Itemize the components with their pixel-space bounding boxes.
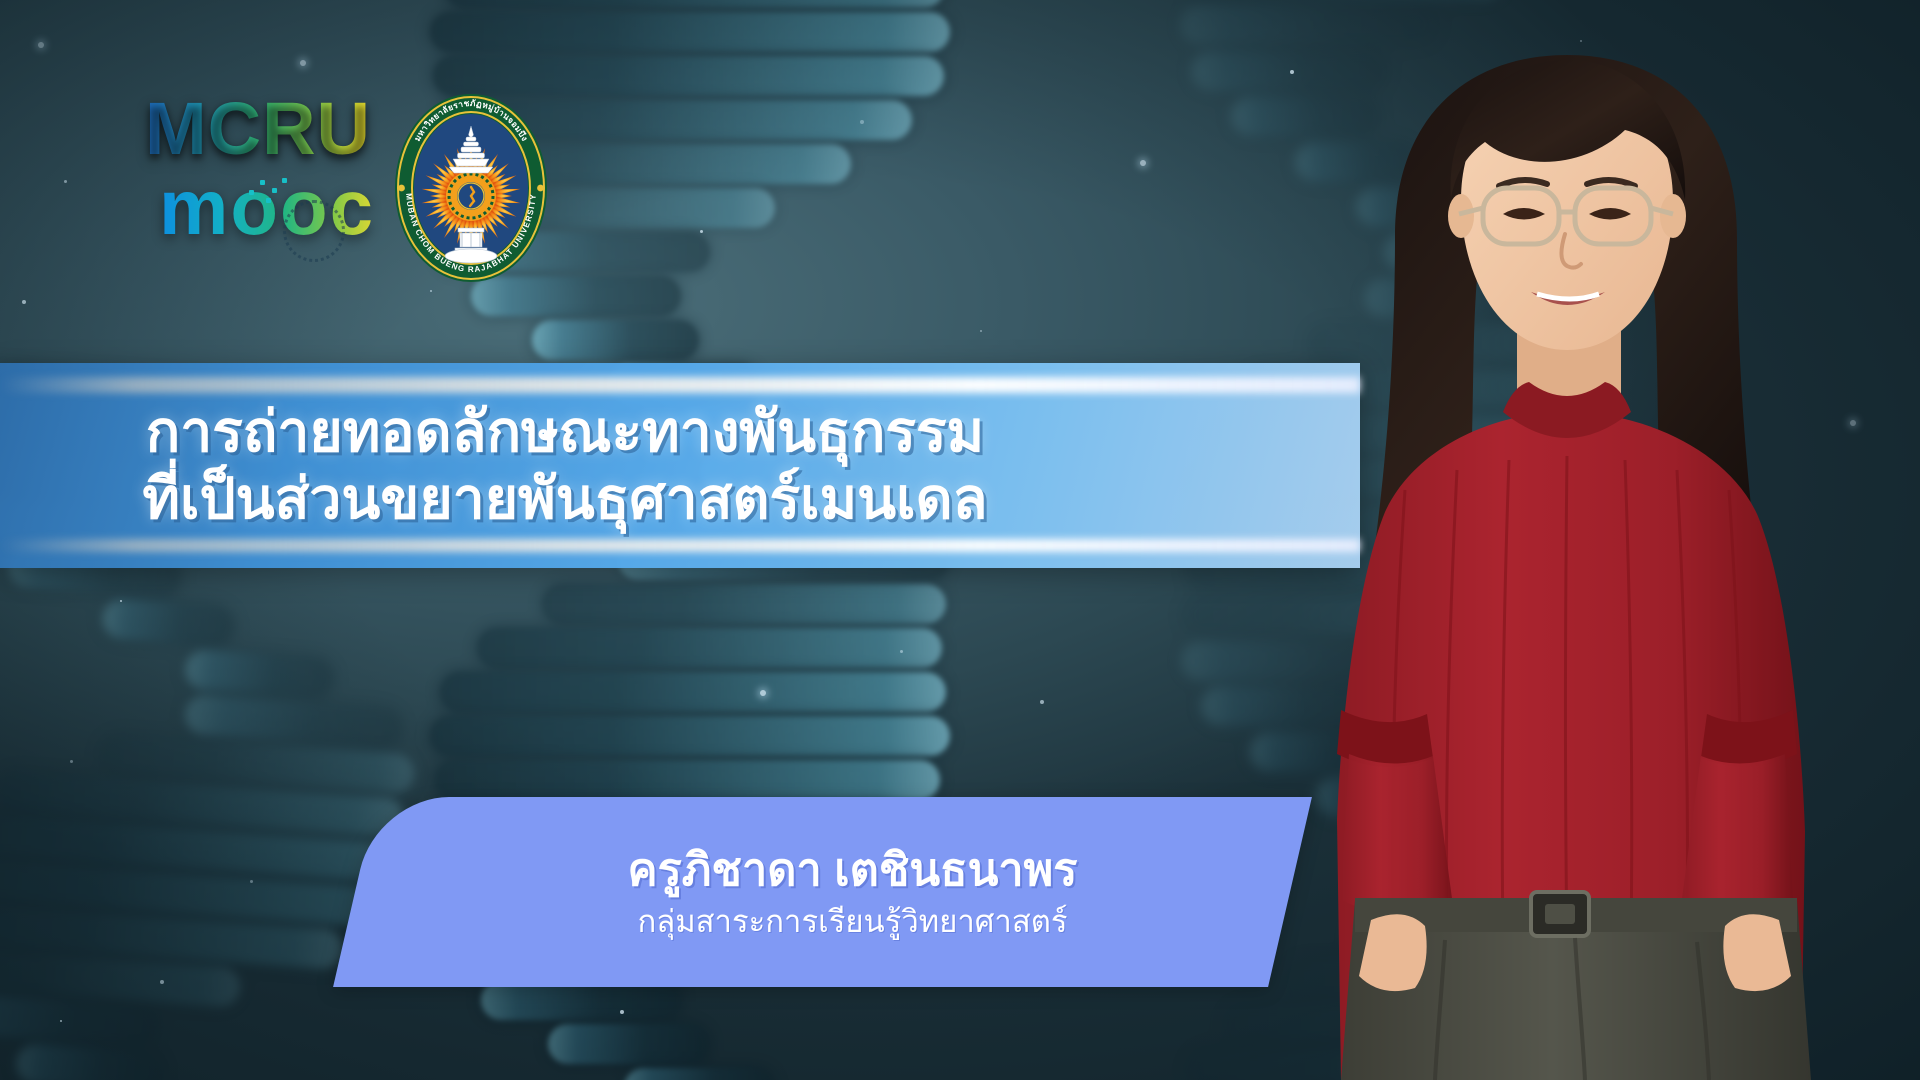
course-title-text: การถ่ายทอดลักษณะทางพันธุกรรม ที่เป็นส่วน… <box>0 363 1130 568</box>
mcru-wordmark: MCRU <box>145 92 371 166</box>
presenter-banner-content: ครูภิชาดา เตชินธนาพร กลุ่มสาระการเรียนรู… <box>355 797 1290 987</box>
course-title-banner: การถ่ายทอดลักษณะทางพันธุกรรม ที่เป็นส่วน… <box>0 363 1360 568</box>
instructor-photo <box>1245 20 1885 1080</box>
mooc-dotted-ring <box>283 200 345 262</box>
presenter-name: ครูภิชาดา เตชินธนาพร <box>628 845 1078 895</box>
presenter-department: กลุ่มสาระการเรียนรู้วิทยาศาสตร์ <box>637 905 1067 939</box>
mooc-dots-decoration <box>249 176 289 200</box>
course-title-line-2: ที่เป็นส่วนขยายพันธุศาสตร์เมนเดล <box>142 467 987 532</box>
presenter-banner: ครูภิชาดา เตชินธนาพร กลุ่มสาระการเรียนรู… <box>333 797 1312 987</box>
course-title-line-1: การถ่ายทอดลักษณะทางพันธุกรรม <box>146 400 984 465</box>
title-slide: MCRU mooc <box>0 0 1920 1080</box>
university-seal: มหาวิทยาลัยราชภัฏหมู่บ้านจอมบึง MUBAN CH… <box>392 92 550 284</box>
